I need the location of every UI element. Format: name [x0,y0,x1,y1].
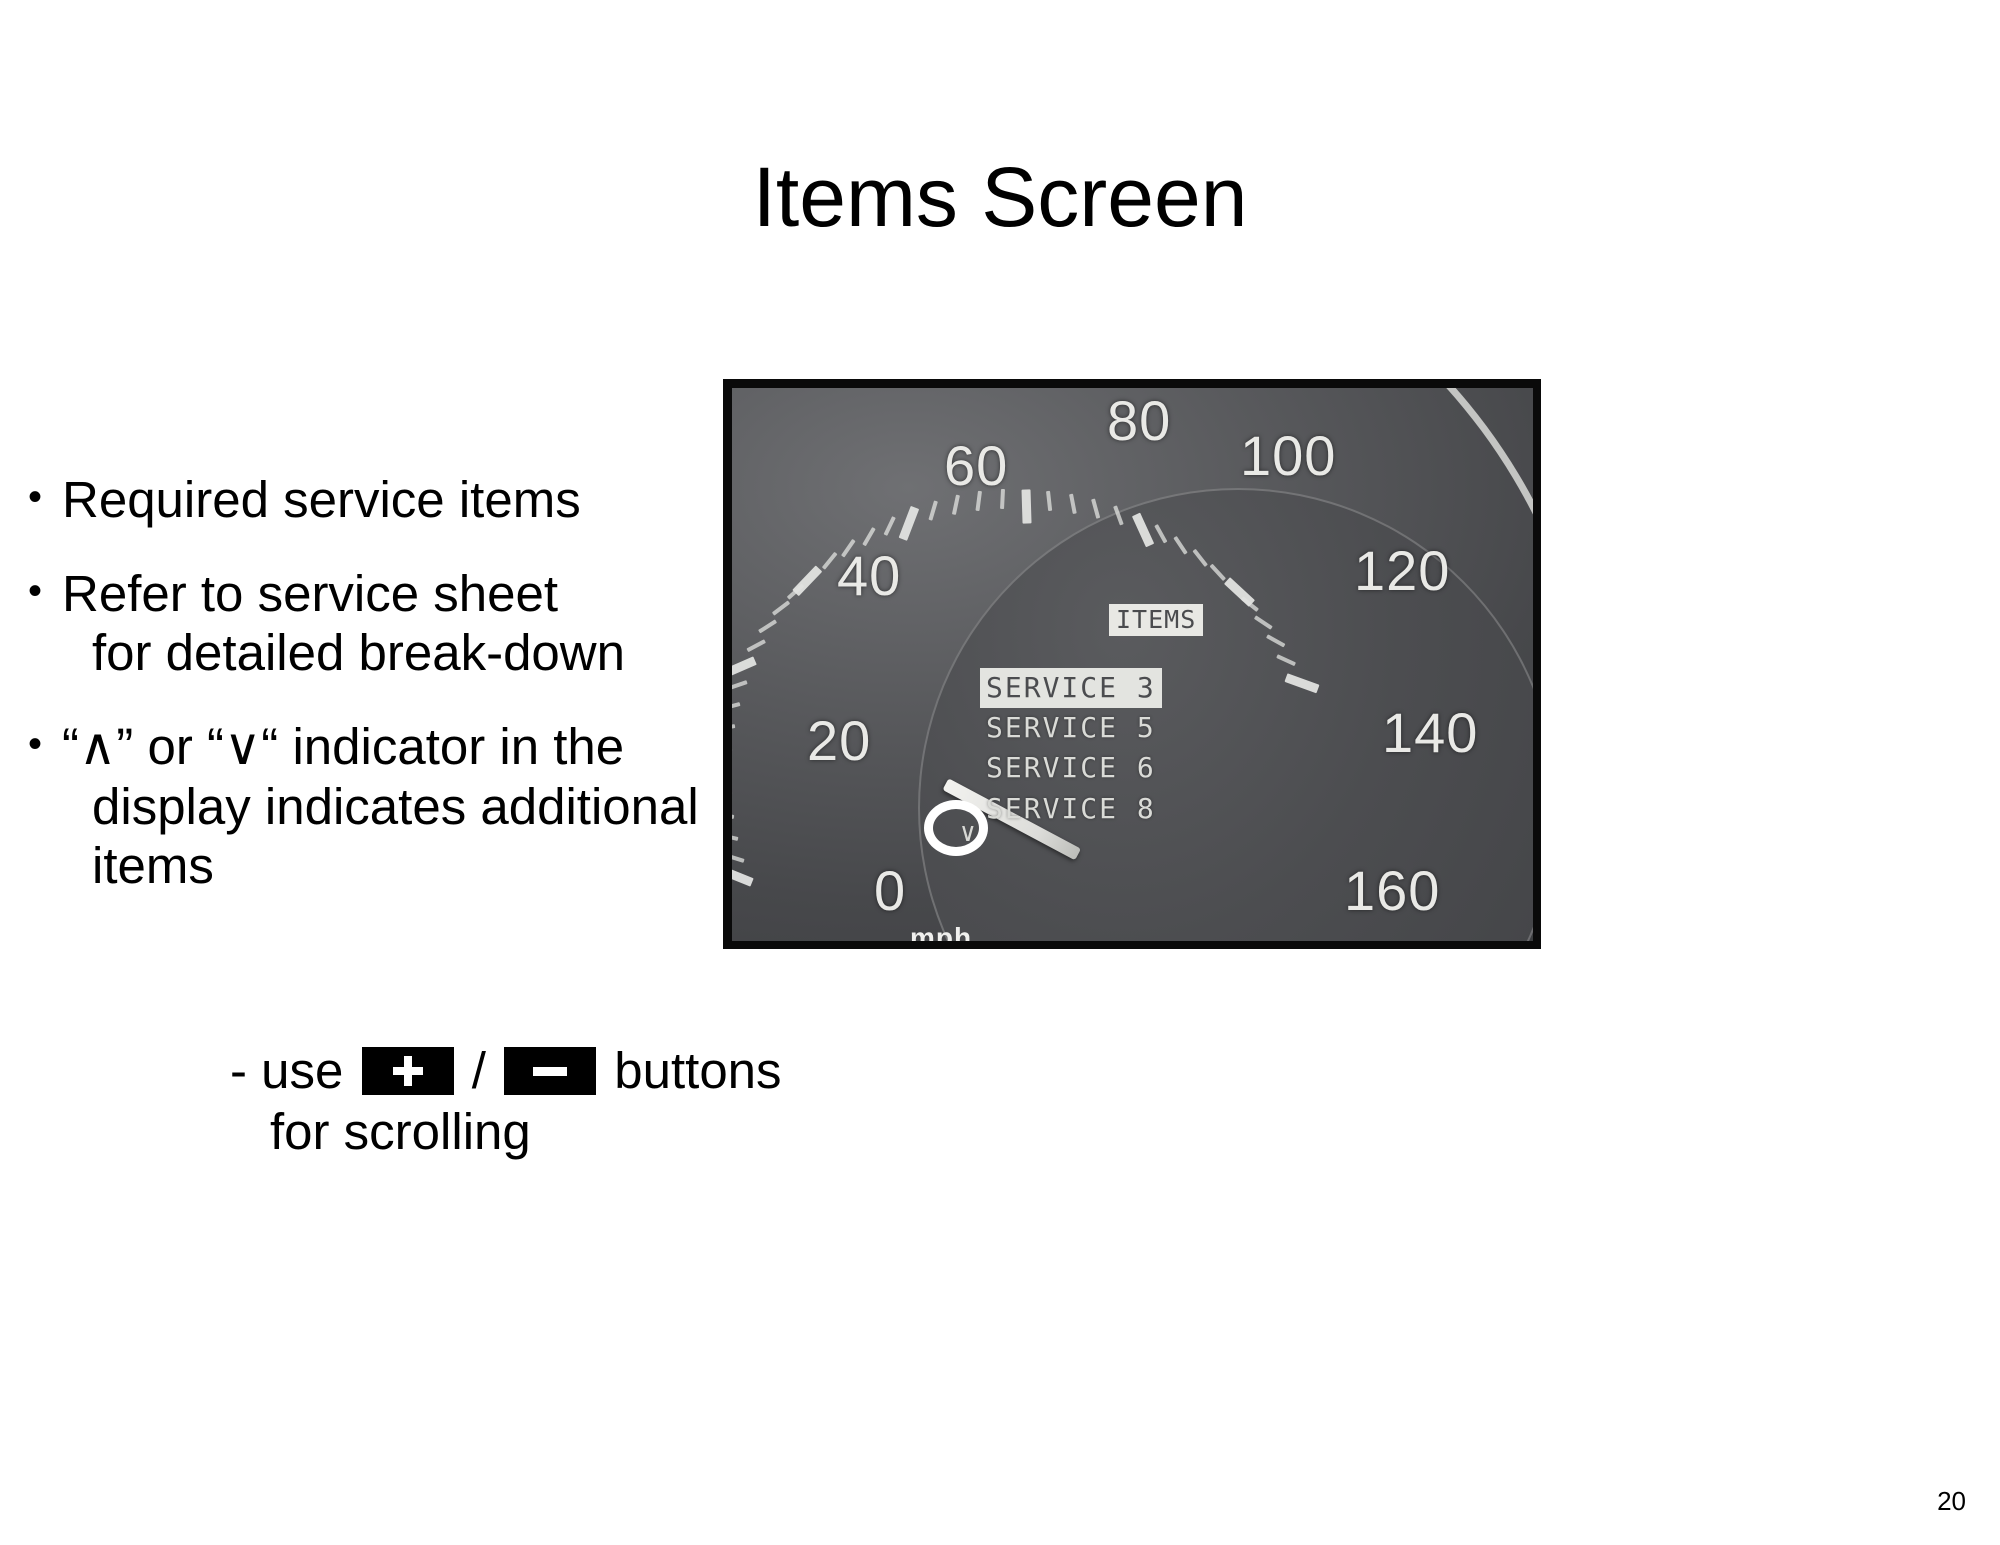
bullet-line: display indicates additional [92,777,728,837]
bullet-line: “∧” or “∨“ indicator in the [62,718,624,775]
lcd-header-items: ITEMS [1109,604,1203,636]
list-item: • Refer to service sheet for detailed br… [28,564,728,683]
sub-bullet: - use / buttons for scrolling [230,1040,782,1162]
gauge-number-0: 0 [874,858,906,923]
lcd-service-row[interactable]: SERVICE 3 [980,668,1162,708]
page-number: 20 [1937,1486,1966,1517]
lcd-service-list: SERVICE 3SERVICE 5SERVICE 6SERVICE 8 [980,668,1162,829]
unit-label-mph: mph [910,922,972,941]
bullet-line: for detailed break-down [92,623,728,683]
bullet-text: Required service items [62,470,728,530]
list-item: • Required service items [28,470,728,530]
gauge-number-140: 140 [1382,700,1478,765]
speedometer-face: 0 20 40 60 80 100 120 140 160 mph ITEMS … [732,388,1533,941]
bullet-line: Refer to service sheet [62,565,558,622]
gauge-number-120: 120 [1354,538,1450,603]
sub-bullet-prefix: - use [230,1042,343,1099]
bullet-marker-icon: • [28,564,62,618]
major-tick [1021,489,1031,523]
page-title: Items Screen [0,155,2000,239]
lcd-service-row[interactable]: SERVICE 5 [980,708,1162,748]
minus-button-icon[interactable] [504,1047,596,1095]
gauge-number-40: 40 [837,543,901,608]
key-separator: / [472,1042,486,1099]
gauge-number-20: 20 [807,708,871,773]
list-item: • “∧” or “∨“ indicator in the display in… [28,717,728,896]
bullet-line: Required service items [62,471,581,528]
gauge-number-160: 160 [1344,858,1440,923]
bullet-line: items [92,836,728,896]
gauge-number-80: 80 [1107,388,1171,453]
bullet-list: • Required service items • Refer to serv… [28,470,728,930]
sub-bullet-suffix: buttons [614,1042,781,1099]
plus-vertical-bar [404,1056,412,1086]
bullet-marker-icon: • [28,470,62,524]
gauge-number-100: 100 [1240,423,1336,488]
bullet-text: Refer to service sheet for detailed brea… [62,564,728,683]
gauge-number-60: 60 [944,433,1008,498]
annotation-highlight-circle [924,800,988,856]
bullet-marker-icon: • [28,717,62,771]
instrument-cluster-photo: 0 20 40 60 80 100 120 140 160 mph ITEMS … [723,379,1541,949]
bullet-text: “∧” or “∨“ indicator in the display indi… [62,717,728,896]
lcd-service-row[interactable]: SERVICE 6 [980,748,1162,788]
minus-horizontal-bar [533,1067,567,1076]
sub-bullet-line2: for scrolling [270,1101,782,1162]
plus-button-icon[interactable] [362,1047,454,1095]
lcd-service-row[interactable]: SERVICE 8 [980,789,1162,829]
